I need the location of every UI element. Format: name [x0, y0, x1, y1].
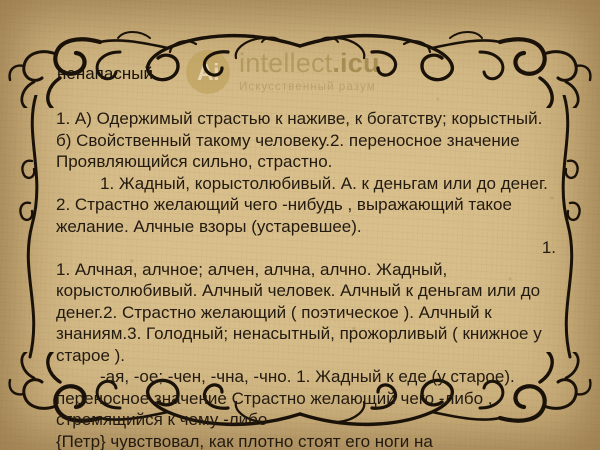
definition-paragraph-4: -ая, -ое; -чен, -чна, -чно. 1. Жадный к … — [56, 366, 556, 431]
ornament-left-border — [2, 95, 62, 375]
brand-logo-icon: Ai — [186, 50, 230, 94]
definition-paragraph-3: 1. Алчная, алчное; алчен, алчна, алчно. … — [56, 259, 556, 367]
watermark-text-block: intellect.icu Искусственный разум — [239, 50, 380, 94]
brand-logo-text: Ai — [197, 59, 219, 86]
right-marker: 1. — [542, 237, 556, 259]
brand-name-main: intellect — [239, 48, 332, 78]
dictionary-entry-body: 1. А) Одержимый страстью к наживе, к бог… — [56, 108, 556, 450]
brand-name: intellect.icu — [239, 50, 380, 77]
page-title: ненапасный — [57, 64, 153, 84]
watermark: Ai intellect.icu Искусственный разум — [186, 50, 380, 94]
definition-paragraph-5: {Петр} чувствовал, как плотно стоят его … — [56, 431, 556, 450]
brand-tagline: Искусственный разум — [239, 82, 380, 94]
dictionary-slide: Ai intellect.icu Искусственный разум нен… — [0, 0, 600, 450]
brand-name-tld: .icu — [332, 48, 379, 78]
definition-paragraph-1: 1. А) Одержимый страстью к наживе, к бог… — [56, 108, 556, 173]
definition-paragraph-2: 1. Жадный, корыстолюбивый. А. к деньгам … — [56, 173, 556, 238]
